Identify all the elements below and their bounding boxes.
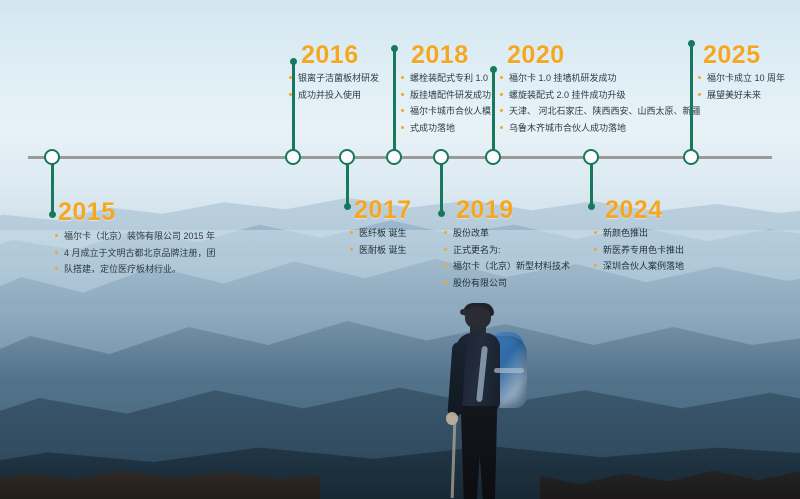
node-tip-dot [49, 211, 56, 218]
node-tip-dot [438, 210, 445, 217]
bullet-item: 银离子洁菌板材研发 [288, 71, 388, 86]
node-tip-dot [290, 58, 297, 65]
bullet-item-cont: 乌鲁木齐城市合伙人成功落地 [499, 121, 689, 136]
bullet-item: 深圳合伙人案例落地 [593, 259, 713, 274]
node-ring [485, 149, 501, 165]
bullet-item: 新医养专用色卡推出 [593, 243, 713, 258]
node-tip-dot [588, 203, 595, 210]
year-label-2017: 2017 [354, 198, 412, 223]
node-stem [292, 61, 295, 157]
bullet-item: 福尔卡成立 10 周年 [697, 71, 800, 86]
bullet-item: 福尔卡城市合伙人模 [400, 104, 505, 119]
bullet-item: 螺栓装配式专利 1.0 [400, 71, 505, 86]
node-ring [339, 149, 355, 165]
bullet-item-cont: 版挂墙配件研发成功 [400, 88, 505, 103]
bullet-item: 展望美好未来 [697, 88, 800, 103]
node-stem [690, 43, 693, 157]
bullet-list-2017: 医纤板 诞生 医耐板 诞生 [349, 226, 439, 259]
bullet-item-cont: 4 月成立于文明古都北京品牌注册，团 [54, 246, 219, 261]
hiker-figure [432, 306, 542, 499]
bullet-item-cont: 福尔卡（北京）新型材料技术 [443, 259, 563, 274]
bullet-item: 新颜色推出 [593, 226, 713, 241]
bullet-item-cont: 队搭建，定位医疗板材行业。 [54, 262, 219, 277]
timeline-infographic: 2015 福尔卡（北京）装饰有限公司 2015 年 4 月成立于文明古都北京品牌… [0, 0, 800, 499]
bullet-list-2019: 股份改革 正式更名为: 福尔卡（北京）新型材料技术 股份有限公司 [443, 226, 563, 292]
bullet-list-2020: 福尔卡 1.0 挂墙机研发成功 螺旋装配式 2.0 挂件成功升级 天津、 河北石… [499, 71, 689, 137]
bullet-item: 福尔卡 1.0 挂墙机研发成功 [499, 71, 689, 86]
node-stem [393, 48, 396, 157]
node-stem [492, 69, 495, 157]
year-label-2018: 2018 [411, 43, 469, 68]
node-tip-dot [688, 40, 695, 47]
bullet-item: 医耐板 诞生 [349, 243, 439, 258]
year-label-2019: 2019 [456, 198, 514, 223]
bullet-list-2016: 银离子洁菌板材研发 成功并投入使用 [288, 71, 388, 104]
node-ring [44, 149, 60, 165]
bullet-item: 天津、 河北石家庄、陕西西安、山西太原、新疆 [499, 104, 689, 119]
bullet-list-2024: 新颜色推出 新医养专用色卡推出 深圳合伙人案例落地 [593, 226, 713, 276]
node-tip-dot [391, 45, 398, 52]
year-label-2015: 2015 [58, 200, 116, 225]
bullet-item: 螺旋装配式 2.0 挂件成功升级 [499, 88, 689, 103]
bullet-item-cont: 股份有限公司 [443, 276, 563, 291]
node-stem [440, 157, 443, 213]
bullet-item: 正式更名为: [443, 243, 563, 258]
node-ring [285, 149, 301, 165]
backpack-compression-strap [494, 368, 524, 373]
year-label-2020: 2020 [507, 43, 565, 68]
node-tip-dot [344, 203, 351, 210]
bullet-list-2018: 螺栓装配式专利 1.0 版挂墙配件研发成功 福尔卡城市合伙人模 式成功落地 [400, 71, 505, 137]
node-tip-dot [490, 66, 497, 73]
year-label-2024: 2024 [605, 198, 663, 223]
hiker-legs [460, 406, 498, 499]
node-ring [386, 149, 402, 165]
bullet-item: 医纤板 诞生 [349, 226, 439, 241]
trekking-pole [451, 420, 457, 498]
bullet-item-cont: 成功并投入使用 [288, 88, 388, 103]
year-label-2025: 2025 [703, 43, 761, 68]
bullet-list-2025: 福尔卡成立 10 周年 展望美好未来 [697, 71, 800, 104]
year-label-2016: 2016 [301, 43, 359, 68]
node-ring [433, 149, 449, 165]
bullet-item-cont: 式成功落地 [400, 121, 505, 136]
bullet-item: 股份改革 [443, 226, 563, 241]
node-stem [51, 157, 54, 214]
node-ring [683, 149, 699, 165]
node-ring [583, 149, 599, 165]
bullet-item: 福尔卡（北京）装饰有限公司 2015 年 [54, 229, 219, 244]
bullet-list-2015: 福尔卡（北京）装饰有限公司 2015 年 4 月成立于文明古都北京品牌注册，团 … [54, 229, 219, 279]
